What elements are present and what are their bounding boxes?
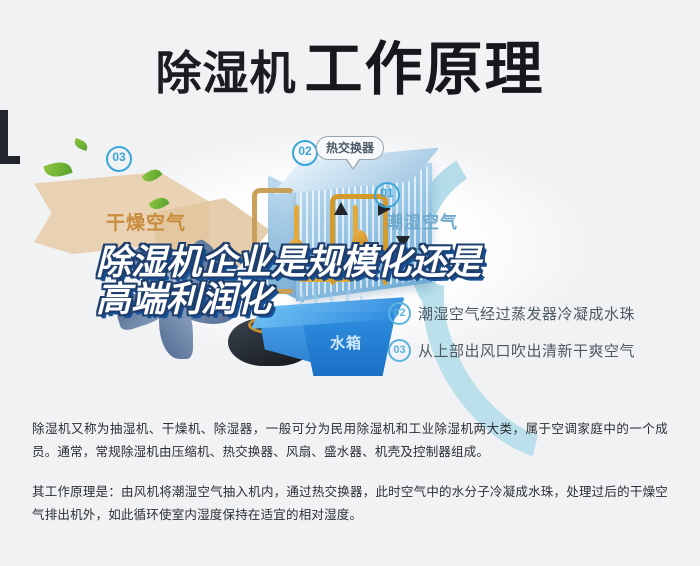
coil-node-icon [288, 238, 304, 264]
article-body: 除湿机又称为抽湿机、干燥机、除湿器，一般可分为民用除湿机和工业除湿机两大类，属于… [32, 418, 668, 544]
step-badge: 02 [388, 302, 411, 325]
page-title-main: 工作原理 [304, 37, 544, 102]
coil-node-icon [318, 260, 331, 280]
list-item: 02 潮湿空气经过蒸发器冷凝成水珠 [388, 302, 678, 325]
step-label: 潮湿空气经过蒸发器冷凝成水珠 [418, 303, 635, 324]
body-paragraph-1: 除湿机又称为抽湿机、干燥机、除湿器，一般可分为民用除湿机和工业除湿机两大类，属于… [32, 418, 668, 464]
heat-exchanger-callout: 热交换器 [316, 136, 384, 160]
airflow-up-arrow-stem [0, 110, 8, 132]
diagram-badge-02: 02 [292, 140, 318, 166]
diagram-badge-03: 03 [106, 146, 132, 172]
airflow-right-arrow-stem [0, 156, 20, 164]
airflow-down-arrow-icon [396, 236, 410, 249]
list-item: 03 从上部出风口吹出清新干爽空气 [388, 339, 678, 362]
humid-air-label: 潮湿空气 [386, 208, 458, 233]
fan-hub-icon [163, 267, 193, 297]
airflow-up-arrow-icon [334, 202, 348, 215]
coil-node-icon [352, 230, 368, 256]
dry-air-label: 干燥空气 [106, 208, 186, 235]
process-step-list: 02 潮湿空气经过蒸发器冷凝成水珠 03 从上部出风口吹出清新干爽空气 [388, 302, 678, 376]
page-title: 除湿机工作原理 [0, 22, 700, 106]
body-paragraph-2: 其工作原理是：由风机将潮湿空气抽入机内，通过热交换器，此时空气中的水分子冷凝成水… [32, 481, 668, 527]
step-label: 从上部出风口吹出清新干爽空气 [418, 340, 635, 361]
water-tank-label: 水箱 [330, 332, 362, 353]
page-root: 除湿机工作原理 [0, 0, 700, 566]
page-title-prefix: 除湿机 [155, 47, 296, 99]
diagram-badge-01: 01 [374, 182, 400, 208]
airflow-down-arrow-stem [0, 132, 8, 156]
step-badge: 03 [388, 339, 411, 362]
